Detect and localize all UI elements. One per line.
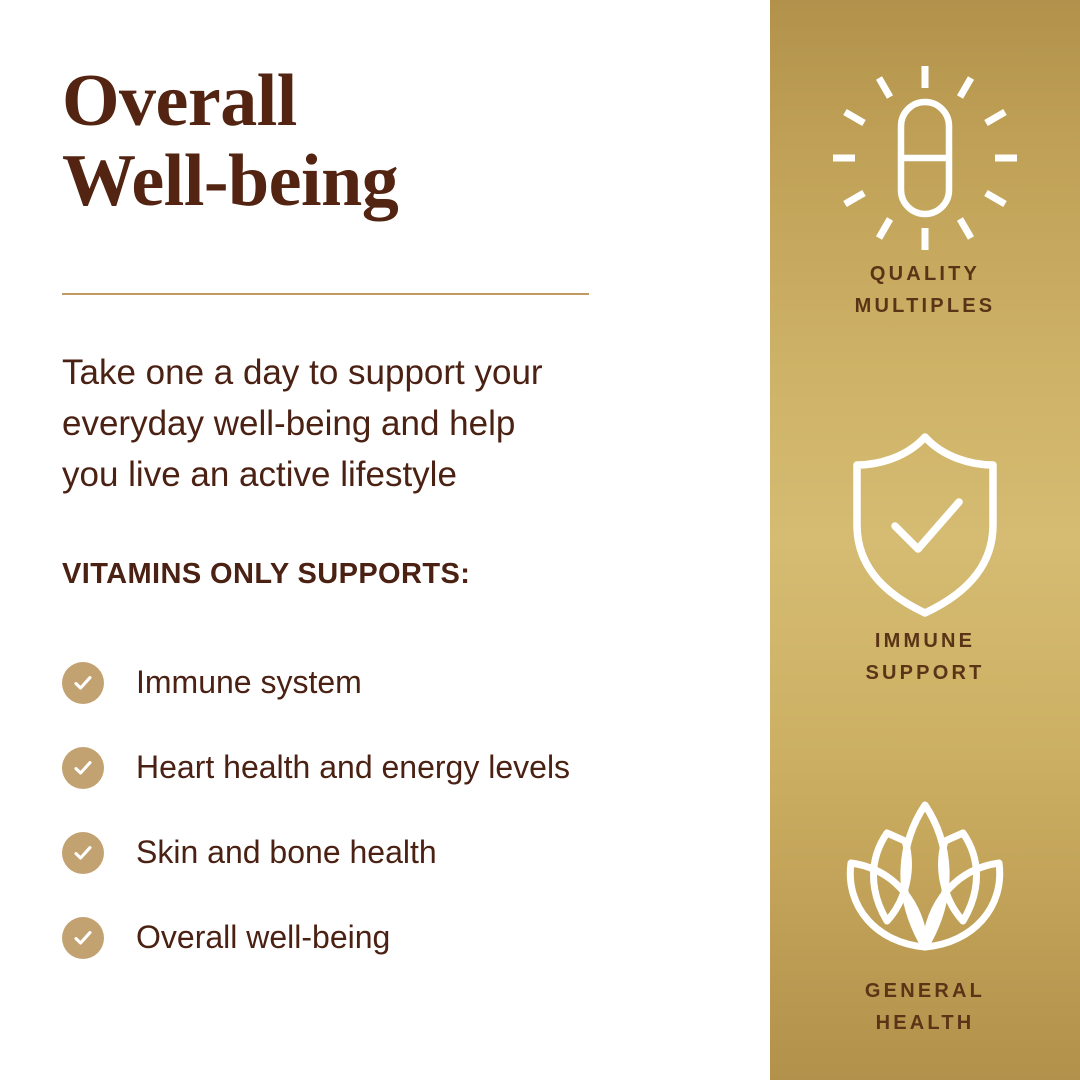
feature-label-line-2: SUPPORT <box>770 657 1080 689</box>
check-icon <box>62 747 104 789</box>
feature-label-line-1: QUALITY <box>770 258 1080 290</box>
supports-list: Immune system Heart health and energy le… <box>62 640 712 980</box>
check-icon <box>62 662 104 704</box>
feature-label-line-1: IMMUNE <box>770 625 1080 657</box>
feature-block-immune-support: IMMUNE SUPPORT <box>770 425 1080 689</box>
feature-label-line-2: HEALTH <box>770 1007 1080 1039</box>
check-icon <box>62 832 104 874</box>
intro-line-3: you live an active lifestyle <box>62 450 692 501</box>
left-content-pane: Overall Well-being Take one a day to sup… <box>0 0 770 1080</box>
list-item: Skin and bone health <box>62 810 712 895</box>
feature-block-general-health: GENERAL HEALTH <box>770 775 1080 1039</box>
feature-label: IMMUNE SUPPORT <box>770 625 1080 689</box>
intro-line-2: everyday well-being and help <box>62 399 692 450</box>
feature-label: QUALITY MULTIPLES <box>770 258 1080 322</box>
list-item: Heart health and energy levels <box>62 725 712 810</box>
list-item-label: Overall well-being <box>136 919 390 956</box>
feature-label-line-2: MULTIPLES <box>770 290 1080 322</box>
page-title: Overall Well-being <box>62 62 702 222</box>
title-divider <box>62 293 589 295</box>
feature-block-quality-multiples: QUALITY MULTIPLES <box>770 58 1080 322</box>
list-item: Immune system <box>62 640 712 725</box>
feature-label-line-1: GENERAL <box>770 975 1080 1007</box>
list-item-label: Immune system <box>136 664 362 701</box>
page-title-line-1: Overall <box>62 62 702 142</box>
supports-heading: VITAMINS ONLY SUPPORTS: <box>62 558 470 591</box>
list-item-label: Skin and bone health <box>136 834 437 871</box>
pill-rays-icon <box>770 58 1080 258</box>
product-benefits-panel: Overall Well-being Take one a day to sup… <box>0 0 1080 1080</box>
feature-sidebar: QUALITY MULTIPLES IMMUNE SUPPORT <box>770 0 1080 1080</box>
lotus-flower-icon <box>770 775 1080 975</box>
intro-paragraph: Take one a day to support your everyday … <box>62 348 692 500</box>
list-item-label: Heart health and energy levels <box>136 749 570 786</box>
check-icon <box>62 917 104 959</box>
list-item: Overall well-being <box>62 895 712 980</box>
intro-line-1: Take one a day to support your <box>62 348 692 399</box>
shield-check-icon <box>770 425 1080 625</box>
page-title-line-2: Well-being <box>62 142 702 222</box>
feature-label: GENERAL HEALTH <box>770 975 1080 1039</box>
